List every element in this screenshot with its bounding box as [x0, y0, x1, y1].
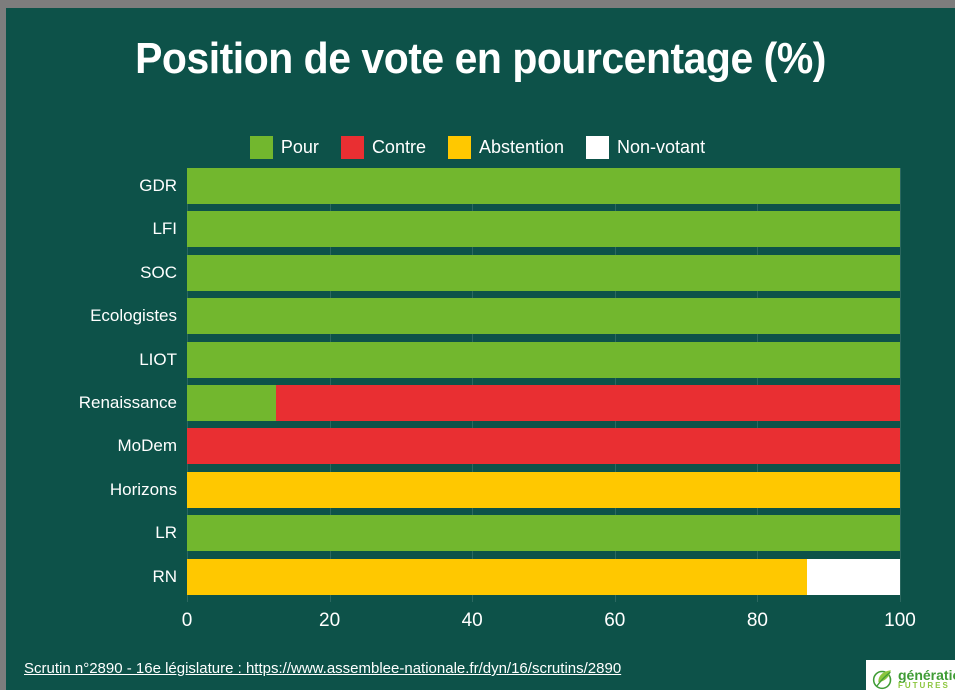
bar-segment-abstention[interactable] [187, 472, 900, 508]
bar-segment-pour[interactable] [187, 515, 900, 551]
plot-area: GDRLFISOCEcologistesLIOTRenaissanceMoDem… [181, 168, 900, 608]
bar-segment-pour[interactable] [187, 342, 900, 378]
logo-text: générations FUTURES [898, 668, 955, 690]
gridline [900, 168, 901, 602]
bar-row[interactable] [187, 515, 900, 551]
bars-container [187, 168, 900, 602]
y-axis-label-lr: LR [6, 515, 177, 551]
bar-segment-pour[interactable] [187, 168, 900, 204]
legend-item-non-votant[interactable]: Non-votant [586, 136, 705, 159]
bar-segment-abstention[interactable] [187, 559, 807, 595]
bar-segment-contre[interactable] [187, 428, 900, 464]
bar-segment-pour[interactable] [187, 385, 276, 421]
bar-row[interactable] [187, 385, 900, 421]
y-axis-label-modem: MoDem [6, 428, 177, 464]
x-axis-tick-label: 100 [884, 610, 916, 632]
bar-row[interactable] [187, 428, 900, 464]
y-axis-label-soc: SOC [6, 255, 177, 291]
legend-item-abstention[interactable]: Abstention [448, 136, 564, 159]
bar-segment-pour[interactable] [187, 298, 900, 334]
y-axis-label-rn: RN [6, 559, 177, 595]
legend-label: Non-votant [617, 137, 705, 158]
y-axis-label-lfi: LFI [6, 211, 177, 247]
legend-label: Abstention [479, 137, 564, 158]
x-axis-tick-label: 20 [319, 610, 340, 632]
x-axis-tick-label: 0 [182, 610, 193, 632]
bar-segment-pour[interactable] [187, 255, 900, 291]
bar-row[interactable] [187, 298, 900, 334]
x-axis-tick-label: 40 [462, 610, 483, 632]
page-title: Position de vote en pourcentage (%) [39, 34, 922, 84]
leaf-icon [872, 668, 894, 690]
bar-row[interactable] [187, 255, 900, 291]
chart-legend: PourContreAbstentionNon-votant [6, 136, 949, 159]
legend-swatch-icon [250, 136, 273, 159]
bar-row[interactable] [187, 168, 900, 204]
bar-row[interactable] [187, 342, 900, 378]
x-axis-tick-label: 80 [747, 610, 768, 632]
bar-segment-non-votant[interactable] [807, 559, 900, 595]
legend-label: Contre [372, 137, 426, 158]
legend-swatch-icon [586, 136, 609, 159]
logo-subtitle: FUTURES [898, 682, 955, 690]
bar-row[interactable] [187, 211, 900, 247]
y-axis-label-renaissance: Renaissance [6, 385, 177, 421]
source-link[interactable]: Scrutin n°2890 - 16e législature : https… [24, 660, 621, 677]
logo-card: générations FUTURES [866, 660, 955, 690]
y-axis-label-liot: LIOT [6, 342, 177, 378]
legend-label: Pour [281, 137, 319, 158]
y-axis-label-horizons: Horizons [6, 472, 177, 508]
bar-segment-pour[interactable] [187, 211, 900, 247]
legend-item-contre[interactable]: Contre [341, 136, 426, 159]
bar-row[interactable] [187, 472, 900, 508]
logo-name: générations [898, 668, 955, 682]
legend-swatch-icon [448, 136, 471, 159]
legend-item-pour[interactable]: Pour [250, 136, 319, 159]
bar-segment-contre[interactable] [276, 385, 900, 421]
bar-row[interactable] [187, 559, 900, 595]
x-axis: 020406080100 [181, 608, 900, 642]
y-axis-label-ecologistes: Ecologistes [6, 298, 177, 334]
y-axis-label-gdr: GDR [6, 168, 177, 204]
slide-canvas: Position de vote en pourcentage (%) Pour… [6, 8, 955, 690]
x-axis-tick-label: 60 [604, 610, 625, 632]
legend-swatch-icon [341, 136, 364, 159]
